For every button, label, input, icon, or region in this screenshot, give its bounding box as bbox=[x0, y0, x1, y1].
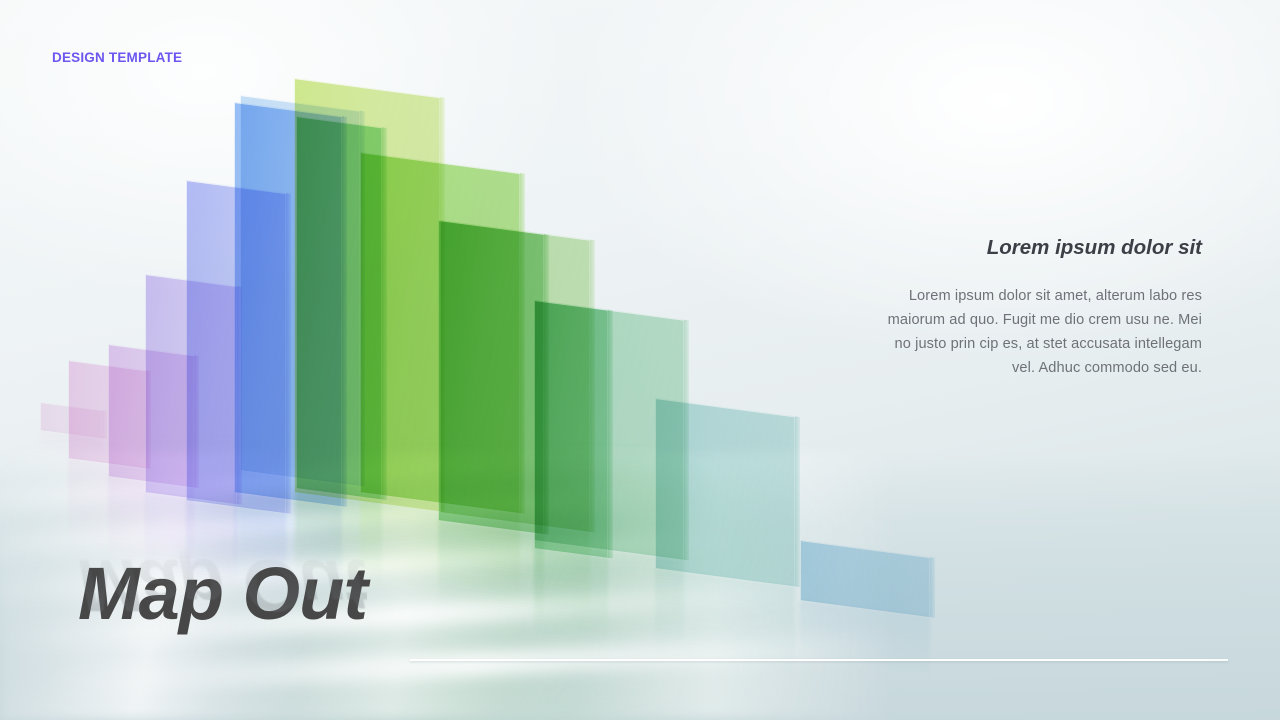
glass-panel-15 bbox=[655, 398, 795, 586]
glass-panel-reflection-14 bbox=[534, 548, 608, 648]
glass-panel-face bbox=[655, 398, 795, 586]
bottom-divider bbox=[410, 659, 1228, 661]
glass-panel-14 bbox=[534, 300, 608, 558]
page-title-reflection: Map Out bbox=[78, 543, 367, 628]
content-paragraph: Lorem ipsum dolor sit amet, alterum labo… bbox=[872, 284, 1202, 380]
content-heading: Lorem ipsum dolor sit bbox=[872, 236, 1202, 260]
slide-kicker: DESIGN TEMPLATE bbox=[52, 50, 182, 65]
glass-panel-face bbox=[534, 300, 608, 558]
glass-panel-12 bbox=[438, 220, 544, 534]
glass-panel-edge bbox=[930, 557, 935, 618]
content-block: Lorem ipsum dolor sit Lorem ipsum dolor … bbox=[872, 236, 1202, 380]
glass-panel-edge bbox=[608, 310, 613, 559]
glass-panel-reflection-12 bbox=[438, 520, 544, 624]
slide-canvas: DESIGN TEMPLATE Map Out Map Out Lorem ip… bbox=[0, 0, 1280, 720]
glass-panel-face bbox=[438, 220, 544, 534]
